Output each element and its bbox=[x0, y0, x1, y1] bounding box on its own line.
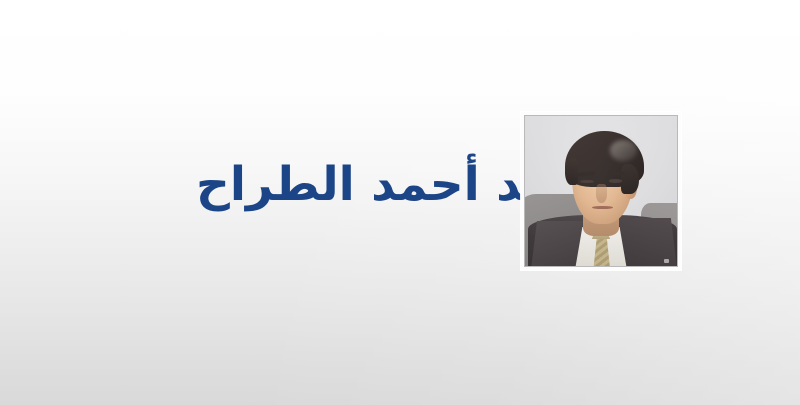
author-name: خالد أحمد الطراح bbox=[196, 154, 496, 216]
portrait-artifact-speck bbox=[664, 259, 669, 263]
author-banner: خالد أحمد الطراح bbox=[0, 0, 800, 405]
author-portrait-photo bbox=[525, 116, 677, 266]
author-portrait-border bbox=[524, 115, 678, 267]
portrait-vignette bbox=[525, 116, 677, 266]
author-portrait-frame bbox=[521, 112, 681, 270]
